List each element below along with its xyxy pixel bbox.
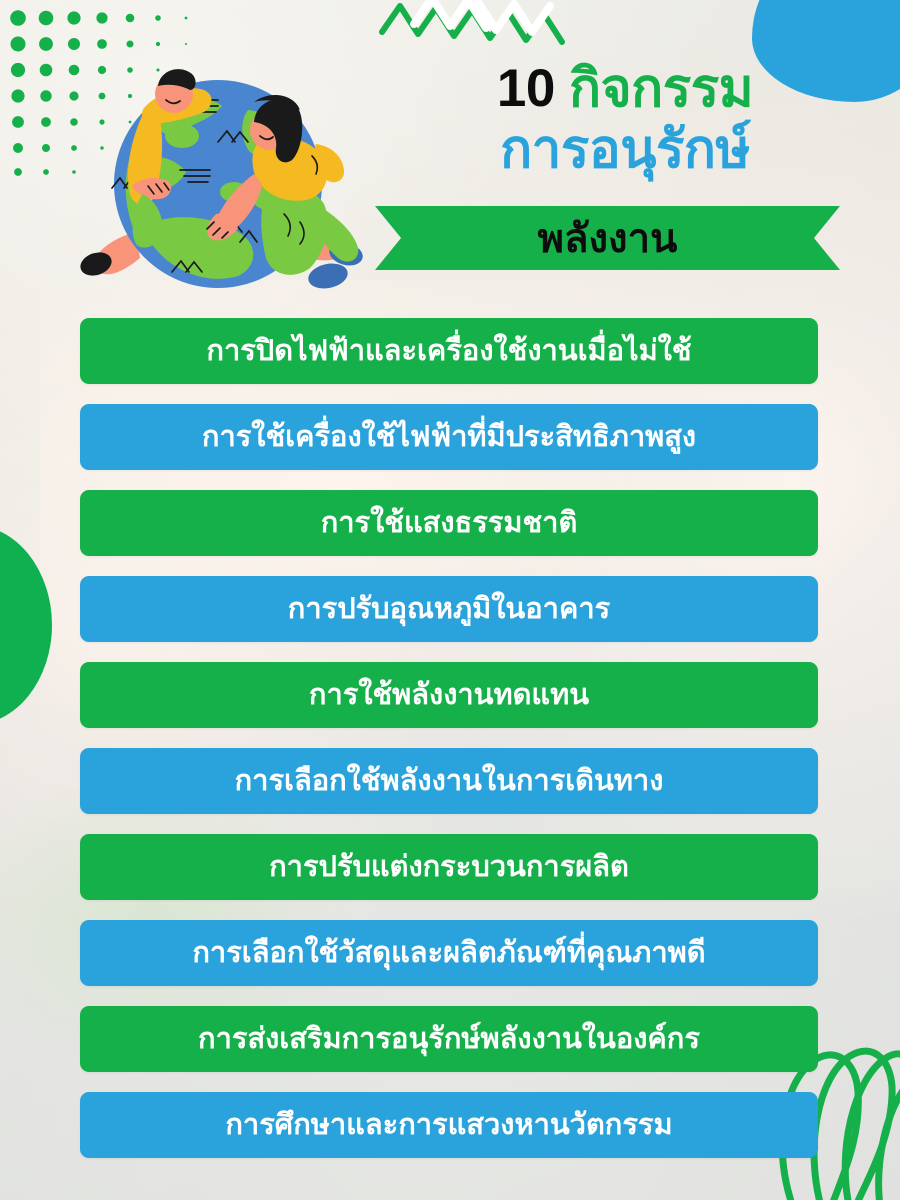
activity-label: การเลือกใช้วัสดุและผลิตภัณฑ์ที่คุณภาพดี [192, 939, 705, 968]
activity-bar[interactable]: การใช้เครื่องใช้ไฟฟ้าที่มีประสิทธิภาพสูง [80, 404, 818, 470]
activity-label: การเลือกใช้พลังงานในการเดินทาง [235, 767, 664, 796]
activity-label: การปรับอุณหภูมิในอาคาร [288, 595, 610, 624]
title-word-green: กิจกรรม [569, 59, 753, 118]
title-line-1: 10 กิจกรรม [400, 62, 850, 115]
activity-bar[interactable]: การศึกษาและการแสวงหานวัตกรรม [80, 1092, 818, 1158]
title-number: 10 [497, 59, 555, 118]
activity-label: การใช้เครื่องใช้ไฟฟ้าที่มีประสิทธิภาพสูง [202, 423, 696, 452]
activity-bar[interactable]: การปรับอุณหภูมิในอาคาร [80, 576, 818, 642]
people-hugging-earth-illustration [58, 36, 388, 316]
activity-bar[interactable]: การส่งเสริมการอนุรักษ์พลังงานในองค์กร [80, 1006, 818, 1072]
activity-label: การใช้แสงธรรมชาติ [321, 509, 578, 538]
activity-list: การปิดไฟฟ้าและเครื่องใช้งานเมื่อไม่ใช้กา… [80, 318, 818, 1178]
activity-bar[interactable]: การปิดไฟฟ้าและเครื่องใช้งานเมื่อไม่ใช้ [80, 318, 818, 384]
activity-label: การปิดไฟฟ้าและเครื่องใช้งานเมื่อไม่ใช้ [206, 337, 691, 366]
energy-conservation-poster: 10 กิจกรรม การอนุรักษ์ พลังงาน การปิดไฟฟ… [0, 0, 900, 1200]
activity-label: การส่งเสริมการอนุรักษ์พลังงานในองค์กร [198, 1025, 700, 1054]
activity-bar[interactable]: การเลือกใช้วัสดุและผลิตภัณฑ์ที่คุณภาพดี [80, 920, 818, 986]
poster-title: 10 กิจกรรม การอนุรักษ์ [400, 62, 850, 176]
activity-bar[interactable]: การใช้แสงธรรมชาติ [80, 490, 818, 556]
activity-bar[interactable]: การเลือกใช้พลังงานในการเดินทาง [80, 748, 818, 814]
title-line-2: การอนุรักษ์ [400, 123, 850, 176]
zigzag-lines-decoration [378, 0, 598, 64]
title-ribbon-banner: พลังงาน [375, 206, 840, 270]
activity-label: การใช้พลังงานทดแทน [309, 681, 589, 710]
ribbon-label: พลังงาน [538, 206, 678, 270]
activity-bar[interactable]: การปรับแต่งกระบวนการผลิต [80, 834, 818, 900]
activity-label: การปรับแต่งกระบวนการผลิต [269, 853, 629, 882]
activity-label: การศึกษาและการแสวงหานวัตกรรม [225, 1111, 672, 1140]
activity-bar[interactable]: การใช้พลังงานทดแทน [80, 662, 818, 728]
